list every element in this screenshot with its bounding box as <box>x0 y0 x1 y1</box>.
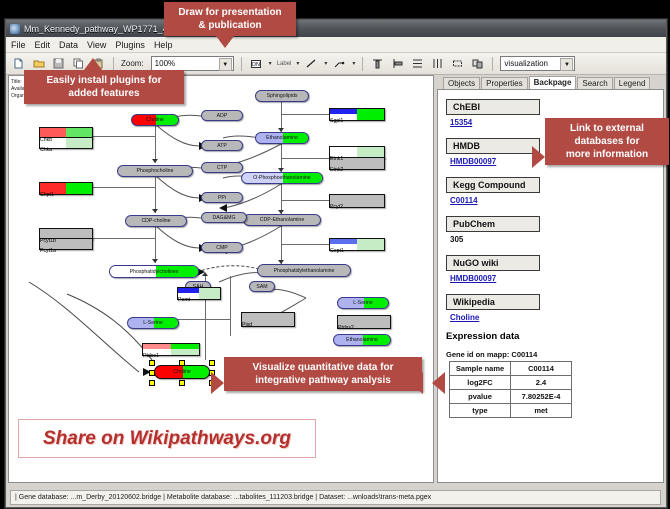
node-label: CMP <box>216 245 228 251</box>
zoom-value: 100% <box>155 59 175 68</box>
callout-visualize: Visualize quantitative data for integrat… <box>224 357 422 391</box>
tab-properties[interactable]: Properties <box>481 77 527 89</box>
node-label: ADP <box>217 113 228 119</box>
zoom-combobox[interactable]: 100% ▼ <box>151 56 234 71</box>
edge <box>281 114 329 115</box>
node-label: SAM <box>256 284 267 290</box>
edge <box>91 136 155 137</box>
callout-draw-pointer <box>216 36 234 48</box>
datanode-icon[interactable]: DN <box>249 56 264 71</box>
callout-link-line3: more information <box>551 148 663 161</box>
node-choline-top[interactable]: Choline <box>131 114 179 126</box>
menu-file[interactable]: File <box>11 40 26 50</box>
node-chpt1[interactable]: Chpt1 <box>39 182 93 195</box>
table-row: type met <box>450 404 572 418</box>
section-header-pubchem: PubChem <box>446 216 540 232</box>
node-l-serine-left[interactable]: L-Serine <box>127 317 179 329</box>
node-label: ATP <box>217 143 227 149</box>
chevron-down-icon[interactable]: ▾ <box>296 60 299 67</box>
node-label: Choline <box>173 369 191 375</box>
node-label: Ptdss2 <box>338 325 354 331</box>
section-header-wikipedia: Wikipedia <box>446 294 540 310</box>
node-label: Chka <box>40 147 52 153</box>
callout-link: Link to external databases for more info… <box>545 118 669 165</box>
distribute-vertical-icon[interactable] <box>410 56 425 71</box>
edge <box>205 319 230 320</box>
node-sphingolipids[interactable]: Sphingolipids <box>255 90 309 102</box>
screenshot-root: Mm_Kennedy_pathway_WP1771_45176.gpml Fil… <box>0 0 670 509</box>
callout-link-line1: Link to external <box>551 122 663 135</box>
tab-search[interactable]: Search <box>577 77 612 89</box>
visualization-combobox[interactable]: visualization ▼ <box>500 56 575 71</box>
chevron-down-icon[interactable]: ▾ <box>269 60 272 67</box>
kegg-link[interactable]: C00114 <box>450 196 663 205</box>
table-row: log2FC 2.4 <box>450 376 572 390</box>
node-label: Sgpl1 <box>330 118 343 124</box>
callout-plugins: Easily install plugins for added feature… <box>24 70 184 104</box>
order-icon[interactable] <box>470 56 485 71</box>
resize-handle[interactable] <box>149 360 155 366</box>
callout-draw: Draw for presentation & publication <box>164 2 296 36</box>
expression-data-heading: Expression data <box>446 331 663 342</box>
node-ptdss1[interactable]: Ptdss1 <box>142 343 200 356</box>
section-header-nugo: NuGO wiki <box>446 255 540 271</box>
node-phosphocholine[interactable]: Phosphocholine <box>117 165 193 177</box>
toolbar-separator <box>492 57 493 71</box>
node-label: Phosphatidylcholines <box>130 269 179 275</box>
tab-objects[interactable]: Objects <box>443 77 480 89</box>
section-header-hmdb: HMDB <box>446 138 540 154</box>
edge <box>177 319 205 320</box>
label-tool-icon[interactable]: Label <box>277 61 292 67</box>
callout-visualize-pointer-far-right <box>432 372 445 394</box>
node-label: CDP-choline <box>141 218 170 224</box>
edge <box>281 200 329 201</box>
cell-value: met <box>511 404 572 418</box>
callout-link-line2: databases for <box>551 135 663 148</box>
menu-help[interactable]: Help <box>154 40 173 50</box>
node-sam[interactable]: SAM <box>249 281 275 292</box>
chevron-down-icon[interactable]: ▾ <box>352 60 355 67</box>
arrow-icon <box>202 272 208 276</box>
edge <box>91 238 155 239</box>
svg-text:DN: DN <box>252 62 260 68</box>
callout-visualize-line2: integrative pathway analysis <box>230 374 416 387</box>
edge <box>230 276 231 336</box>
node-ppi[interactable]: PPi <box>201 192 243 203</box>
wikipedia-link[interactable]: Choline <box>450 313 663 322</box>
share-text: Share on Wikipathways.org <box>43 428 291 450</box>
cell-key: Sample name <box>450 362 511 376</box>
callout-draw-line1: Draw for presentation <box>170 6 290 19</box>
resize-handle[interactable] <box>179 380 185 386</box>
resize-handle[interactable] <box>179 360 185 366</box>
node-label: Phosphocholine <box>137 168 174 174</box>
node-cept1[interactable]: Cept1 <box>329 238 385 251</box>
table-row: Sample name C00114 <box>450 362 572 376</box>
node-phosphatidylcholines[interactable]: Phosphatidylcholines <box>109 265 199 278</box>
node-label: Ptdss1 <box>143 353 159 359</box>
callout-link-pointer <box>532 146 545 168</box>
window-titlebar: Mm_Kennedy_pathway_WP1771_45176.gpml <box>6 20 666 37</box>
arrow-icon <box>152 259 158 263</box>
node-cdp-choline[interactable]: CDP-choline <box>125 215 187 227</box>
edge <box>155 175 156 213</box>
node-pisd[interactable]: Pisd <box>241 312 295 327</box>
interaction-icon[interactable] <box>332 56 347 71</box>
node-label: SAH <box>193 284 204 290</box>
align-left-icon[interactable] <box>390 56 405 71</box>
chevron-down-icon[interactable]: ▼ <box>219 58 232 71</box>
node-label: Pemt <box>178 297 190 303</box>
resize-handle[interactable] <box>149 370 155 376</box>
node-o-phosphoethanolamine[interactable]: O-Phosphoethanolamine <box>241 172 323 184</box>
cell-key: type <box>450 404 511 418</box>
node-label: O-Phosphoethanolamine <box>253 175 310 181</box>
node-label: Pcyt2 <box>330 204 343 210</box>
section-header-kegg: Kegg Compound <box>446 177 540 193</box>
edge <box>91 187 155 188</box>
menu-edit[interactable]: Edit <box>35 40 51 50</box>
node-pcyt2[interactable]: Pcyt2 <box>329 194 385 208</box>
callout-visualize-line1: Visualize quantitative data for <box>230 361 416 374</box>
status-text: | Gene database: ...m_Derby_20120602.bri… <box>10 490 661 505</box>
node-label: Pcyt1b <box>40 238 56 244</box>
node-label: L-Serine <box>353 300 373 306</box>
open-folder-icon[interactable] <box>31 56 46 71</box>
callout-draw-line2: & publication <box>170 19 290 32</box>
app-icon <box>10 24 20 34</box>
edge <box>281 226 282 264</box>
chevron-down-icon[interactable]: ▼ <box>560 58 573 71</box>
node-label: CTP <box>217 165 227 171</box>
tab-backpage[interactable]: Backpage <box>529 76 577 89</box>
node-label: L-Serine <box>143 320 163 326</box>
pubchem-value: 305 <box>450 235 663 244</box>
nugo-link[interactable]: HMDB00097 <box>450 274 663 283</box>
toolbar-separator <box>113 57 114 71</box>
cell-key: log2FC <box>450 376 511 390</box>
menu-plugins[interactable]: Plugins <box>115 40 145 50</box>
section-header-chebi: ChEBI <box>446 99 540 115</box>
node-label: Chpt1 <box>40 192 54 198</box>
save-icon[interactable] <box>51 56 66 71</box>
distribute-horizontal-icon[interactable] <box>430 56 445 71</box>
table-row: pvalue 7.80252E-4 <box>450 390 572 404</box>
zoom-label: Zoom: <box>121 59 144 68</box>
node-ctp[interactable]: CTP <box>201 162 243 173</box>
node-label: Chkb <box>40 137 52 143</box>
new-file-icon[interactable] <box>11 56 26 71</box>
node-label: Sphingolipids <box>267 93 298 99</box>
group-icon[interactable] <box>450 56 465 71</box>
node-ethanolamine-bottom[interactable]: Ethanolamine <box>333 334 391 346</box>
node-label: DAG&MG <box>212 215 235 221</box>
callout-visualize-pointer-right <box>410 372 423 394</box>
resize-handle[interactable] <box>209 360 215 366</box>
node-cmp[interactable]: CMP <box>201 242 243 253</box>
cell-key: pvalue <box>450 390 511 404</box>
node-dagmg[interactable]: DAG&MG <box>201 212 247 223</box>
callout-plugins-line1: Easily install plugins for <box>30 74 178 87</box>
node-sgpl1[interactable]: Sgpl1 <box>329 108 385 121</box>
node-label: PPi <box>218 195 226 201</box>
menu-data[interactable]: Data <box>59 40 78 50</box>
node-label: CDP-Ethanolamine <box>260 217 304 223</box>
node-ethanolamine[interactable]: Ethanolamine <box>255 132 309 144</box>
expression-table: Sample name C00114 log2FC 2.4 pvalue 7.8… <box>449 361 572 418</box>
node-l-serine-right[interactable]: L-Serine <box>337 297 389 309</box>
edge <box>155 124 156 163</box>
share-banner: Share on Wikipathways.org <box>18 419 316 458</box>
toolbar-separator <box>362 57 363 71</box>
node-label: Etnk1 <box>330 156 343 162</box>
align-top-icon[interactable] <box>370 56 385 71</box>
statusbar: | Gene database: ...m_Derby_20120602.bri… <box>6 487 666 507</box>
node-ptdss2[interactable]: Ptdss2 <box>337 315 391 329</box>
callout-plugins-line2: added features <box>30 87 178 100</box>
resize-handle[interactable] <box>149 380 155 386</box>
cell-value: C00114 <box>511 362 572 376</box>
tab-legend[interactable]: Legend <box>614 77 651 89</box>
cell-value: 2.4 <box>511 376 572 390</box>
node-adp[interactable]: ADP <box>201 110 243 121</box>
menu-view[interactable]: View <box>87 40 106 50</box>
arrow-icon <box>152 209 158 213</box>
node-atp[interactable]: ATP <box>201 140 243 151</box>
callout-visualize-pointer-left <box>211 372 224 394</box>
gene-id-line: Gene id on mapp: C00114 <box>446 350 663 359</box>
callout-plugins-pointer <box>84 58 102 70</box>
node-label: Choline <box>146 117 164 123</box>
edge <box>281 158 329 159</box>
node-label: Phosphatidylethanolamine <box>274 268 335 274</box>
menubar: File Edit Data View Plugins Help <box>6 37 666 53</box>
cell-value: 7.80252E-4 <box>511 390 572 404</box>
line-icon[interactable] <box>304 56 319 71</box>
node-label: Pisd <box>242 322 252 328</box>
node-phosphatidylethanolamine[interactable]: Phosphatidylethanolamine <box>257 264 351 277</box>
edge <box>155 225 156 263</box>
node-label: Ethanolamine <box>346 337 378 343</box>
visualization-value: visualization <box>504 59 548 68</box>
node-label: Pcyt1a <box>40 248 56 254</box>
toolbar-separator <box>241 57 242 71</box>
node-choline-selected[interactable]: Choline <box>154 365 210 379</box>
panel-tabs: Objects Properties Backpage Search Legen… <box>437 75 664 89</box>
chevron-down-icon[interactable]: ▾ <box>324 60 327 67</box>
node-label: Etnk2 <box>330 167 343 173</box>
edge <box>281 244 329 245</box>
node-label: Cept1 <box>330 248 344 254</box>
node-label: Ethanolamine <box>266 135 298 141</box>
arrow-icon <box>152 159 158 163</box>
node-cdp-ethanolamine[interactable]: CDP-Ethanolamine <box>243 214 321 226</box>
